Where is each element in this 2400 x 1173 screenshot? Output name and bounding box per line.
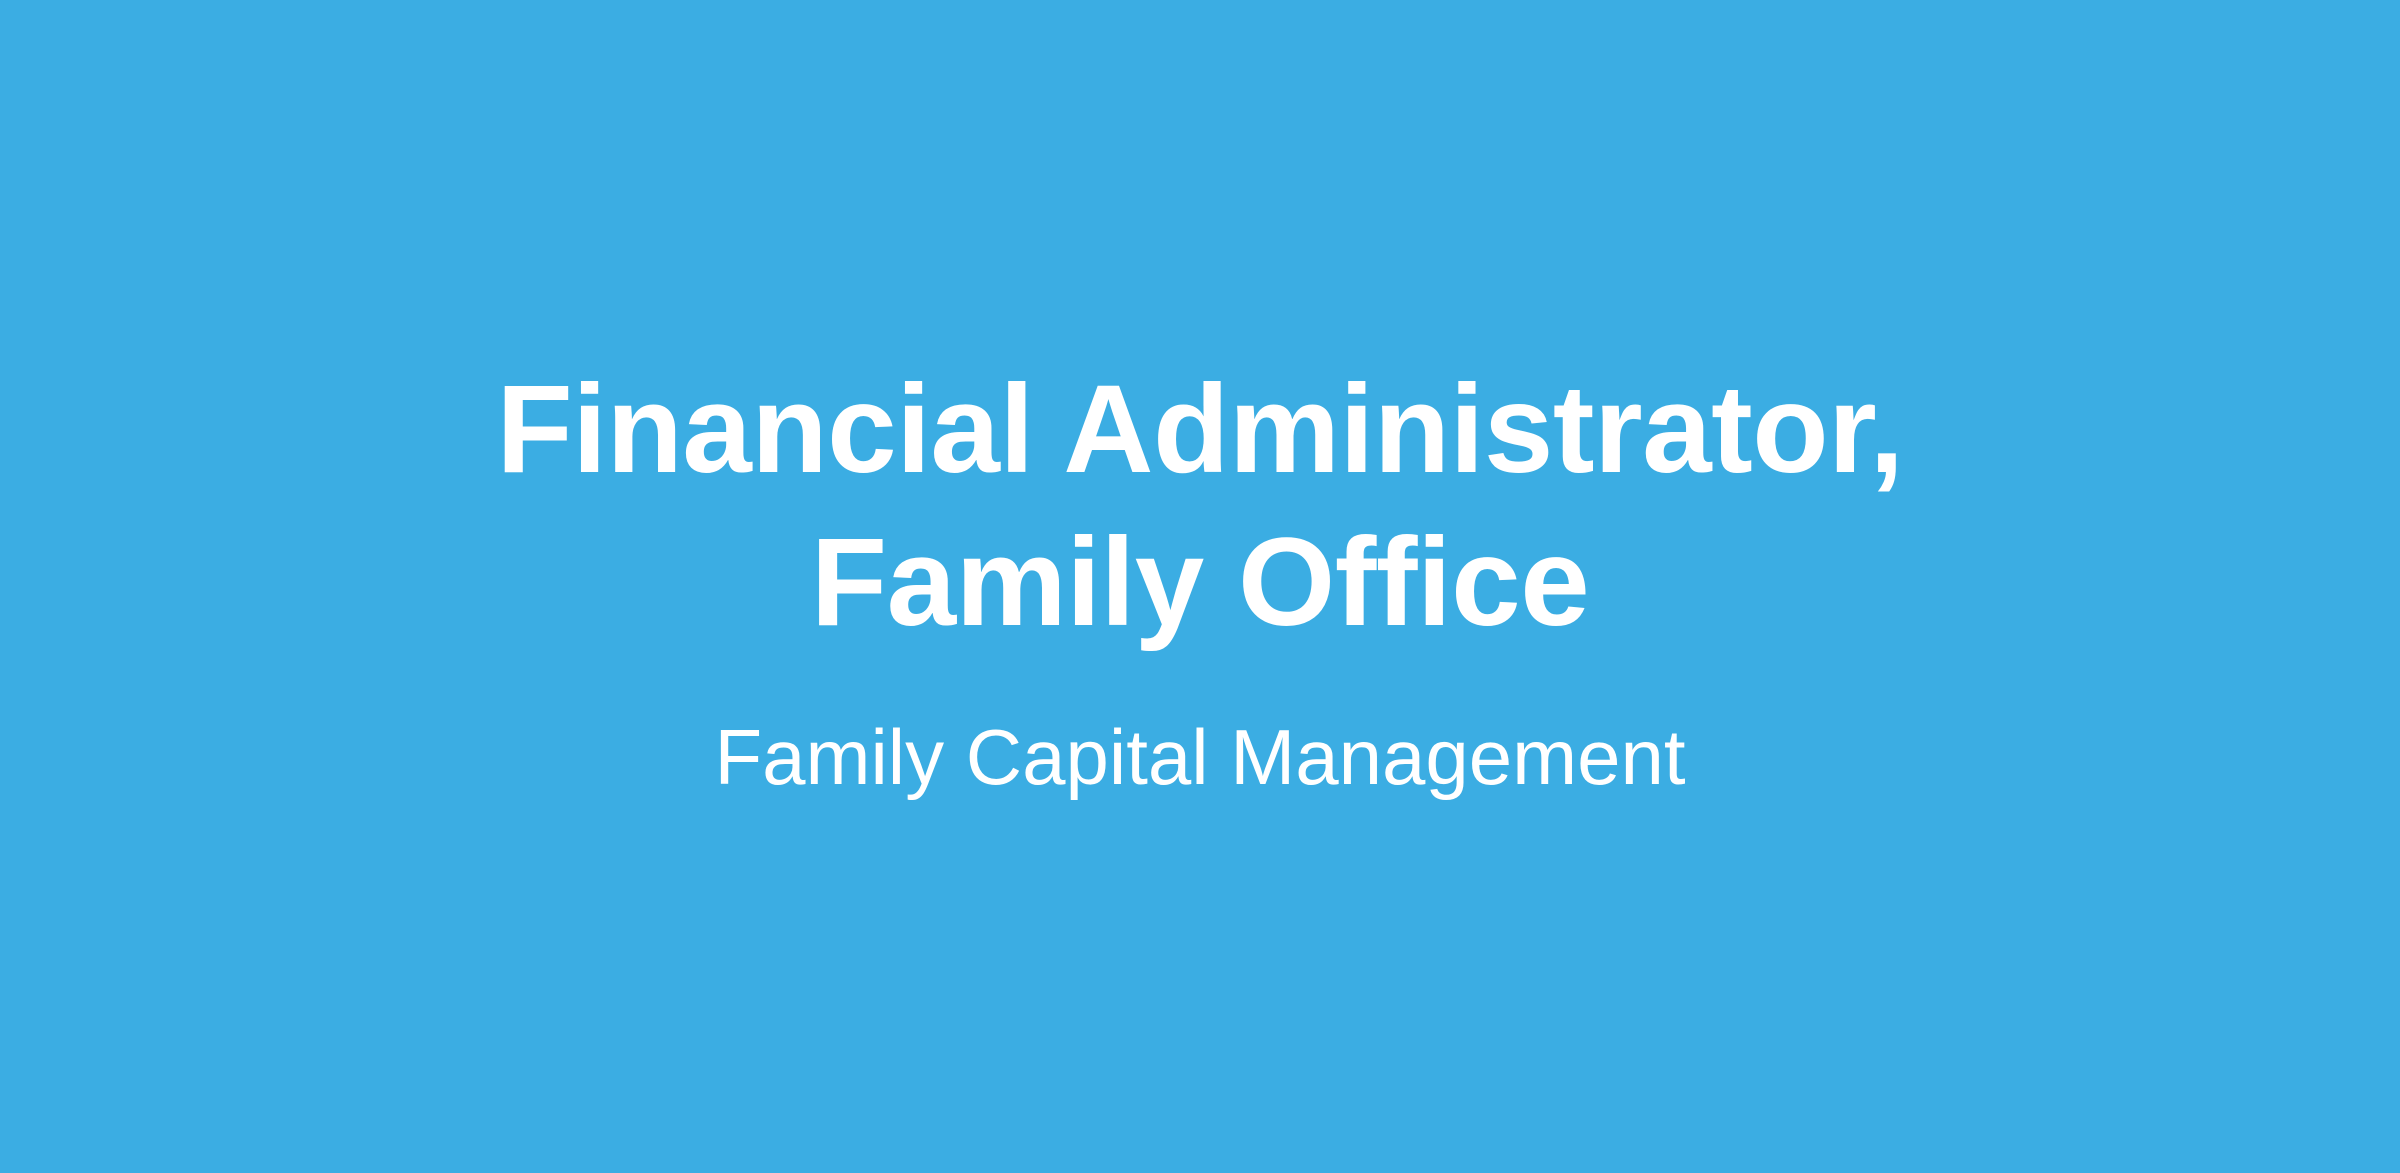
title-block: Financial Administrator, Family Office F… [420,353,1980,803]
title-card: Financial Administrator, Family Office F… [0,0,2400,1173]
page-subtitle: Family Capital Management [420,711,1980,803]
page-title: Financial Administrator, Family Office [420,353,1980,659]
